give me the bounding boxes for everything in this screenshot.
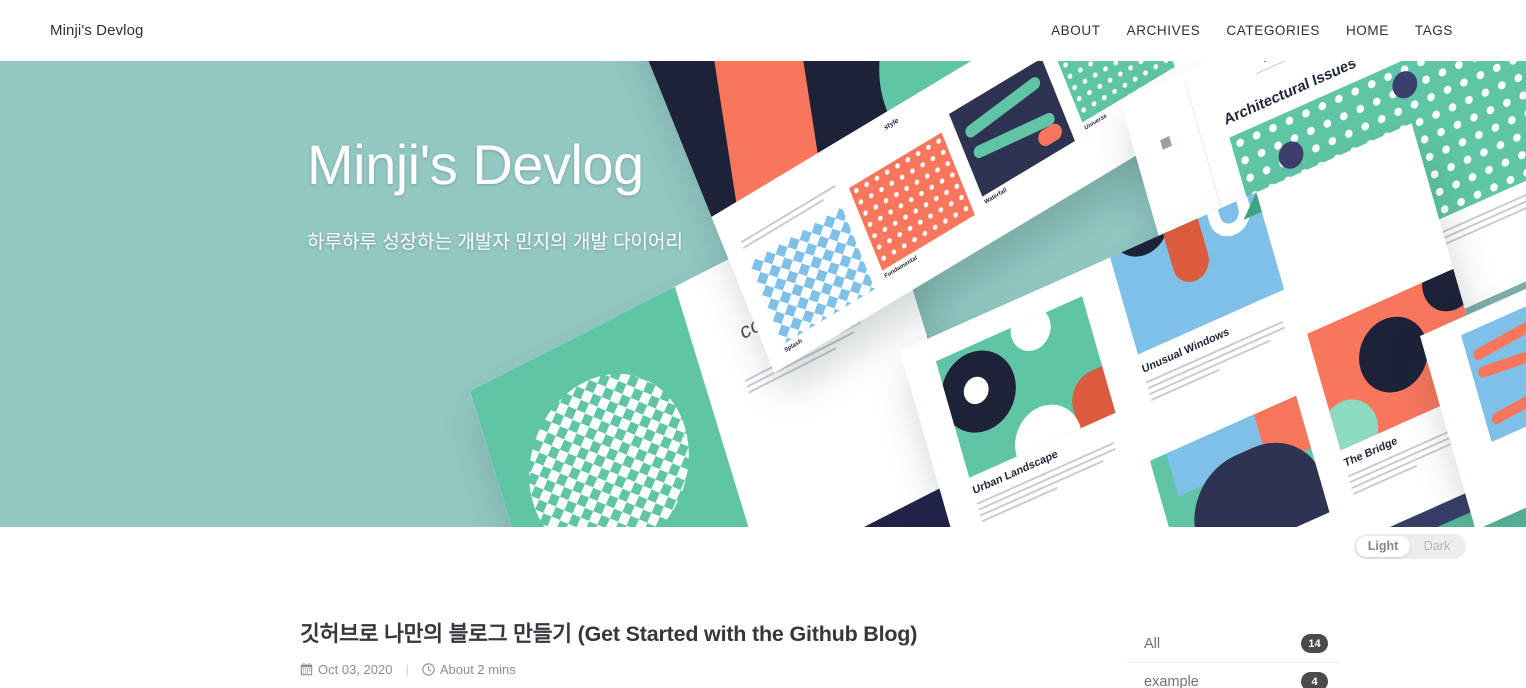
clock-icon — [422, 663, 435, 676]
category-count-badge: 4 — [1301, 672, 1328, 688]
nav-item-home[interactable]: HOME — [1346, 23, 1389, 38]
post-date: Oct 03, 2020 — [300, 662, 392, 677]
grid-tile-wall-of-minimalist — [1150, 396, 1330, 527]
nav-item-about[interactable]: ABOUT — [1051, 23, 1101, 38]
gallery-tile-fundamental — [849, 132, 975, 270]
calendar-icon — [300, 663, 313, 676]
gallery-tile-waterfall — [949, 61, 1075, 197]
letter-dot-accent-2 — [1389, 67, 1420, 103]
category-name: All — [1144, 636, 1160, 652]
post-title-link[interactable]: 깃허브로 나만의 블로그 만들기 (Get Started with the G… — [300, 621, 1012, 649]
bridge-mint-circle — [1314, 390, 1386, 451]
letter-dot-accent-1 — [1276, 137, 1307, 173]
grid-tile-urban-landscape — [936, 296, 1116, 478]
site-brand-link[interactable]: Minji's Devlog — [50, 22, 143, 39]
theme-toggle-dark[interactable]: Dark — [1410, 536, 1464, 557]
gallery-section-label: style — [883, 117, 899, 132]
nav-item-tags[interactable]: TAGS — [1415, 23, 1453, 38]
post-list-item: 깃허브로 나만의 블로그 만들기 (Get Started with the G… — [300, 621, 1012, 688]
main-content: 깃허브로 나만의 블로그 만들기 (Get Started with the G… — [0, 527, 1526, 688]
post-read-time-text: About 2 mins — [440, 662, 516, 677]
post-read-time: About 2 mins — [422, 662, 516, 677]
bridge-dark-circle — [1351, 305, 1437, 404]
site-header: Minji's Devlog ABOUT ARCHIVES CATEGORIES… — [0, 0, 1526, 61]
hero-text-block: Minji's Devlog 하루하루 성장하는 개발자 민지의 개발 다이어리 — [307, 136, 683, 254]
post-meta-separator: | — [405, 662, 408, 677]
category-item-all[interactable]: All 14 — [1127, 625, 1340, 663]
theme-toggle-light[interactable]: Light — [1356, 536, 1410, 557]
nav-item-archives[interactable]: ARCHIVES — [1127, 23, 1201, 38]
category-sidebar: All 14 example 4 — [1127, 621, 1340, 688]
hero-title: Minji's Devlog — [307, 136, 683, 195]
category-count-badge: 14 — [1301, 634, 1328, 653]
hero-artwork-collage: coffee WHATEVER about works how it works… — [0, 61, 1526, 527]
main-navigation: ABOUT ARCHIVES CATEGORIES HOME TAGS — [1051, 23, 1453, 38]
post-list: 깃허브로 나만의 블로그 만들기 (Get Started with the G… — [300, 621, 1012, 688]
hero-banner: coffee WHATEVER about works how it works… — [0, 61, 1526, 527]
letter-card-menu-icon — [1160, 136, 1172, 150]
post-date-text: Oct 03, 2020 — [318, 662, 392, 677]
urban-white-circle — [1006, 300, 1056, 358]
post-meta: Oct 03, 2020 | About 2 mins — [300, 662, 1012, 677]
category-item-example[interactable]: example 4 — [1127, 663, 1340, 688]
theme-toggle[interactable]: Light Dark — [1354, 534, 1466, 559]
category-name: example — [1144, 674, 1199, 688]
nav-item-categories[interactable]: CATEGORIES — [1226, 23, 1320, 38]
hero-subtitle: 하루하루 성장하는 개발자 민지의 개발 다이어리 — [307, 227, 683, 254]
